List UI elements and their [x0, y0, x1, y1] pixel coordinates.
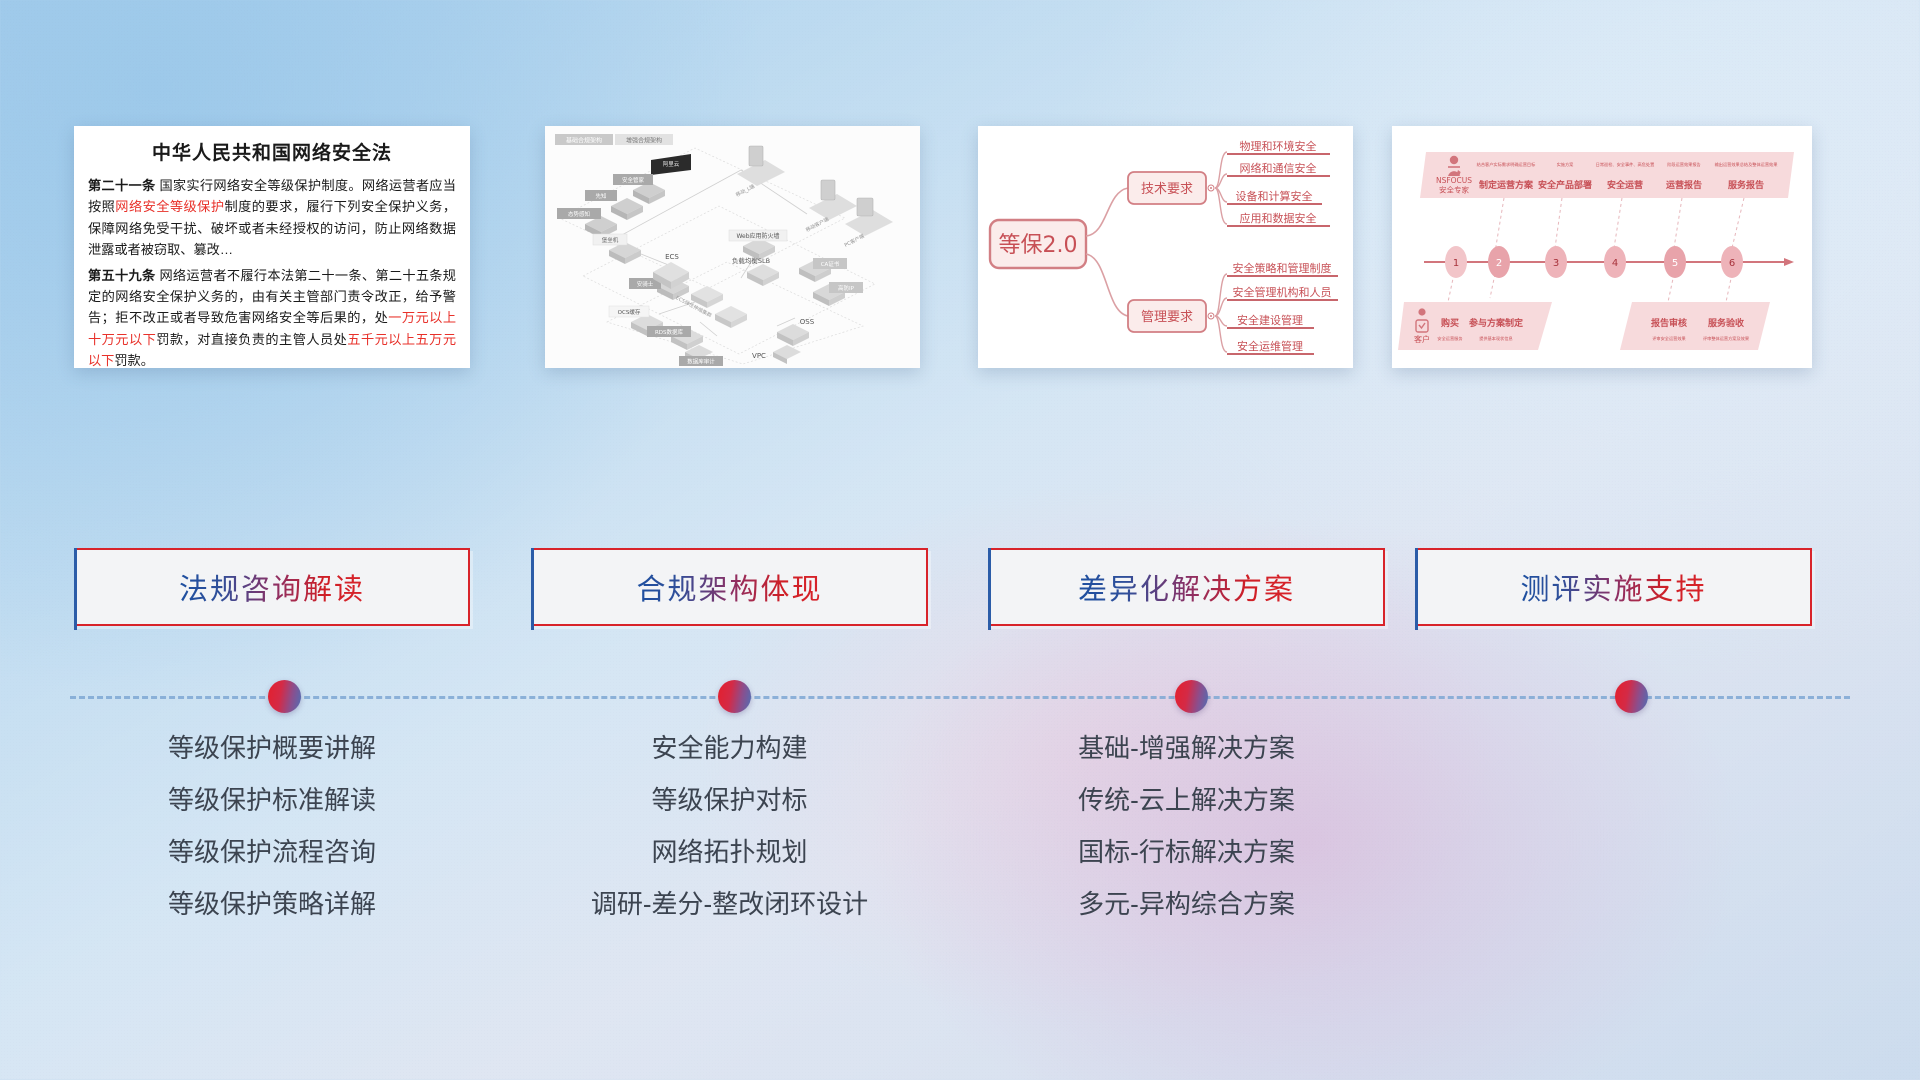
svg-text:应用和数据安全: 应用和数据安全: [1240, 211, 1317, 225]
list-item: 等级保护概要讲解: [74, 735, 470, 761]
svg-text:安全运维管理: 安全运维管理: [1237, 339, 1303, 353]
law-paragraph-21: 第二十一条 国家实行网络安全等级保护制度。网络运营者应当按照网络安全等级保护制度…: [88, 175, 456, 261]
title-label: 测评实施支持: [1520, 566, 1706, 608]
architecture-diagram: 基础合规架构 增强合规架构 阿里云: [545, 126, 920, 368]
svg-text:NSFOCUS: NSFOCUS: [1436, 176, 1472, 185]
svg-text:实施方案: 实施方案: [1557, 161, 1575, 168]
feature-column-2: 安全能力构建 等级保护对标 网络拓扑规划 调研-差分-整改闭环设计: [531, 735, 928, 943]
timeline-dot-4: [1615, 680, 1648, 713]
title-label: 合规架构体现: [636, 566, 822, 608]
law-run-highlight: 网络安全等级保护: [115, 199, 224, 214]
svg-text:先知: 先知: [595, 192, 606, 200]
svg-text:运营报告: 运营报告: [1666, 179, 1702, 191]
feature-column-3: 基础-增强解决方案 传统-云上解决方案 国标-行标解决方案 多元-异构综合方案: [988, 735, 1385, 943]
list-item: 网络拓扑规划: [531, 839, 928, 865]
svg-text:服务验收: 服务验收: [1708, 317, 1744, 329]
title-label: 法规咨询解读: [179, 566, 365, 608]
title-label: 差异化解决方案: [1078, 566, 1295, 608]
list-item: 传统-云上解决方案: [988, 787, 1385, 813]
svg-text:6: 6: [1729, 258, 1735, 269]
svg-text:负载均衡SLB: 负载均衡SLB: [732, 256, 770, 265]
feature-list-row: 等级保护概要讲解 等级保护标准解读 等级保护流程咨询 等级保护策略详解 安全能力…: [0, 735, 1920, 965]
svg-text:增强合规架构: 增强合规架构: [626, 137, 662, 145]
timeline-dashed-line: [70, 696, 1850, 699]
svg-text:管理要求: 管理要求: [1141, 310, 1193, 325]
svg-text:VPC: VPC: [752, 352, 766, 360]
svg-text:安全专家: 安全专家: [1439, 185, 1469, 195]
list-item: 安全能力构建: [531, 735, 928, 761]
mindmap-root-node: 等保2.0: [990, 220, 1086, 268]
svg-text:物理和环境安全: 物理和环境安全: [1240, 139, 1317, 153]
svg-text:高防IP: 高防IP: [838, 284, 855, 292]
svg-text:RDS数据库: RDS数据库: [655, 328, 684, 336]
svg-text:服务报告: 服务报告: [1728, 179, 1764, 191]
title-box-regulation-consulting[interactable]: 法规咨询解读: [74, 548, 470, 626]
feature-column-1: 等级保护概要讲解 等级保护标准解读 等级保护流程咨询 等级保护策略详解: [74, 735, 470, 943]
nsfocus-timeline-card: NSFOCUS 安全专家 结合客户实际需求明确运营目标 制定运营方案 实施方案 …: [1392, 126, 1812, 368]
timeline-dot-1: [268, 680, 301, 713]
svg-text:输出运营效果总结及整体运营效果: 输出运营效果总结及整体运营效果: [1715, 161, 1779, 168]
svg-text:安全管家: 安全管家: [622, 176, 645, 184]
timeline-dot-2: [718, 680, 751, 713]
svg-text:2: 2: [1496, 258, 1502, 269]
svg-text:5: 5: [1672, 258, 1678, 269]
timeline-connector: [70, 695, 1850, 699]
title-box-evaluation-support[interactable]: 测评实施支持: [1415, 548, 1812, 626]
list-item: 调研-差分-整改闭环设计: [531, 891, 928, 917]
timeline-dot-3: [1175, 680, 1208, 713]
law-article-label-21: 第二十一条: [88, 178, 155, 193]
svg-text:安全运营: 安全运营: [1607, 179, 1643, 191]
svg-text:数据库审计: 数据库审计: [687, 358, 715, 366]
svg-text:安全策略和管理制度: 安全策略和管理制度: [1233, 261, 1332, 275]
card-row: 中华人民共和国网络安全法 第二十一条 国家实行网络安全等级保护制度。网络运营者应…: [0, 126, 1920, 368]
title-box-compliance-architecture[interactable]: 合规架构体现: [531, 548, 928, 626]
list-item: 等级保护流程咨询: [74, 839, 470, 865]
law-run: 罚款，对直接负责的主管人员处: [156, 332, 347, 347]
svg-text:Web应用防火墙: Web应用防火墙: [736, 232, 779, 240]
list-item: 等级保护对标: [531, 787, 928, 813]
svg-text:安全管理机构和人员: 安全管理机构和人员: [1233, 285, 1332, 299]
list-item: 多元-异构综合方案: [988, 891, 1385, 917]
law-card-title: 中华人民共和国网络安全法: [88, 138, 456, 165]
svg-text:1: 1: [1453, 258, 1459, 269]
title-box-differentiated-solution[interactable]: 差异化解决方案: [988, 548, 1385, 626]
svg-text:OSS: OSS: [800, 318, 815, 326]
svg-text:OCS缓存: OCS缓存: [618, 308, 641, 316]
svg-text:客户: 客户: [1414, 334, 1430, 344]
svg-text:安骑士: 安骑士: [637, 280, 654, 288]
cybersecurity-law-card: 中华人民共和国网络安全法 第二十一条 国家实行网络安全等级保护制度。网络运营者应…: [74, 126, 470, 368]
law-article-label-59: 第五十九条: [88, 268, 155, 283]
svg-text:技术要求: 技术要求: [1141, 182, 1193, 197]
svg-text:3: 3: [1553, 258, 1559, 269]
svg-text:基础合规架构: 基础合规架构: [566, 137, 602, 145]
svg-text:等保2.0: 等保2.0: [999, 233, 1078, 258]
svg-text:制定运营方案: 制定运营方案: [1479, 179, 1534, 191]
svg-text:日常巡检、安全事件、高危处置: 日常巡检、安全事件、高危处置: [1596, 161, 1655, 168]
svg-text:评审安全运营效果: 评审安全运营效果: [1652, 335, 1686, 342]
list-item: 等级保护策略详解: [74, 891, 470, 917]
svg-text:阶段运营效果报告: 阶段运营效果报告: [1667, 161, 1701, 168]
law-run: 罚款。: [114, 353, 154, 368]
compliance-architecture-card: 基础合规架构 增强合规架构 阿里云: [545, 126, 920, 368]
svg-text:堡垒机: 堡垒机: [602, 236, 619, 244]
list-item: 国标-行标解决方案: [988, 839, 1385, 865]
svg-text:网络和通信安全: 网络和通信安全: [1240, 161, 1317, 175]
list-item: 基础-增强解决方案: [988, 735, 1385, 761]
svg-text:态势感知: 态势感知: [568, 210, 590, 218]
svg-text:评审整体运营方案及效果: 评审整体运营方案及效果: [1703, 335, 1750, 342]
law-paragraph-59: 第五十九条 网络运营者不履行本法第二十一条、第二十五条规定的网络安全保护义务的，…: [88, 265, 456, 369]
svg-text:安全产品部署: 安全产品部署: [1538, 179, 1592, 191]
svg-text:CA证书: CA证书: [821, 260, 840, 268]
svg-text:阿里云: 阿里云: [663, 160, 680, 168]
svg-text:购买: 购买: [1441, 317, 1459, 329]
mindmap-card: 等保2.0 技术要求: [978, 126, 1353, 368]
svg-text:安全运营服务: 安全运营服务: [1437, 335, 1463, 342]
svg-text:设备和计算安全: 设备和计算安全: [1236, 189, 1313, 203]
svg-text:安全建设管理: 安全建设管理: [1237, 313, 1303, 327]
svg-text:结合客户实际需求明确运营目标: 结合客户实际需求明确运营目标: [1477, 161, 1536, 168]
law-text-body: 中华人民共和国网络安全法 第二十一条 国家实行网络安全等级保护制度。网络运营者应…: [74, 126, 470, 368]
title-box-row: 法规咨询解读 合规架构体现 差异化解决方案 测评实施支持: [0, 548, 1920, 626]
dengbao-mindmap: 等保2.0 技术要求: [978, 126, 1353, 368]
list-item: 等级保护标准解读: [74, 787, 470, 813]
svg-text:参与方案制定: 参与方案制定: [1469, 317, 1524, 329]
svg-text:4: 4: [1612, 258, 1618, 269]
nsfocus-service-timeline: NSFOCUS 安全专家 结合客户实际需求明确运营目标 制定运营方案 实施方案 …: [1392, 126, 1812, 368]
svg-text:报告审核: 报告审核: [1651, 317, 1687, 329]
svg-text:ECS: ECS: [665, 253, 679, 261]
svg-text:提供基本现状信息: 提供基本现状信息: [1479, 335, 1513, 342]
